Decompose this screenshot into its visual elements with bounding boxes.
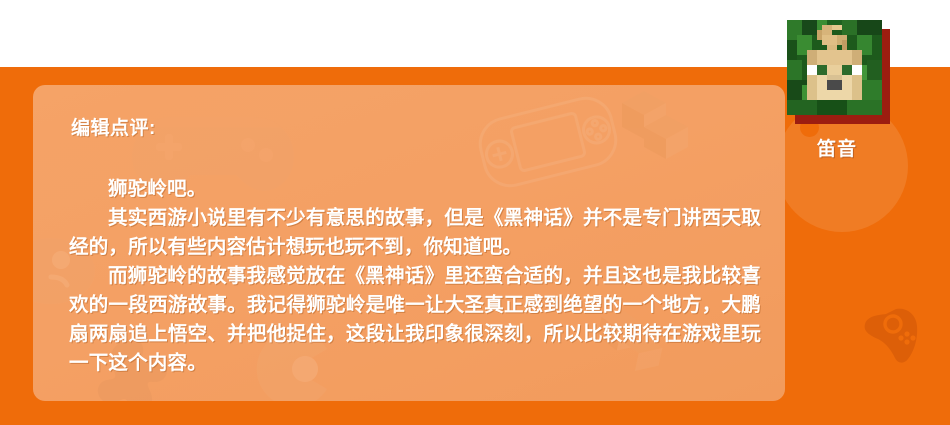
avatar[interactable] (787, 20, 882, 115)
review-paragraph: 狮驼岭吧。 (69, 175, 761, 204)
isometric-block-icon (608, 85, 718, 182)
review-body: 狮驼岭吧。 其实西游小说里有不少有意思的故事，但是《黑神话》并不是专门讲西天取经… (69, 175, 761, 378)
page-title: 编辑点评: (71, 113, 156, 140)
author-name: 笛音 (787, 134, 887, 161)
avatar-image (787, 20, 882, 115)
review-screenshot: 编辑点评: 狮驼岭吧。 其实西游小说里有不少有意思的故事，但是《黑神话》并不是专… (0, 0, 950, 425)
review-paragraph: 其实西游小说里有不少有意思的故事，但是《黑神话》并不是专门讲西天取经的，所以有些… (69, 204, 761, 262)
editor-review-card: 编辑点评: 狮驼岭吧。 其实西游小说里有不少有意思的故事，但是《黑神话》并不是专… (33, 85, 785, 401)
review-paragraph: 而狮驼岭的故事我感觉放在《黑神话》里还蛮合适的，并且这也是我比较喜欢的一段西游故… (69, 262, 761, 378)
